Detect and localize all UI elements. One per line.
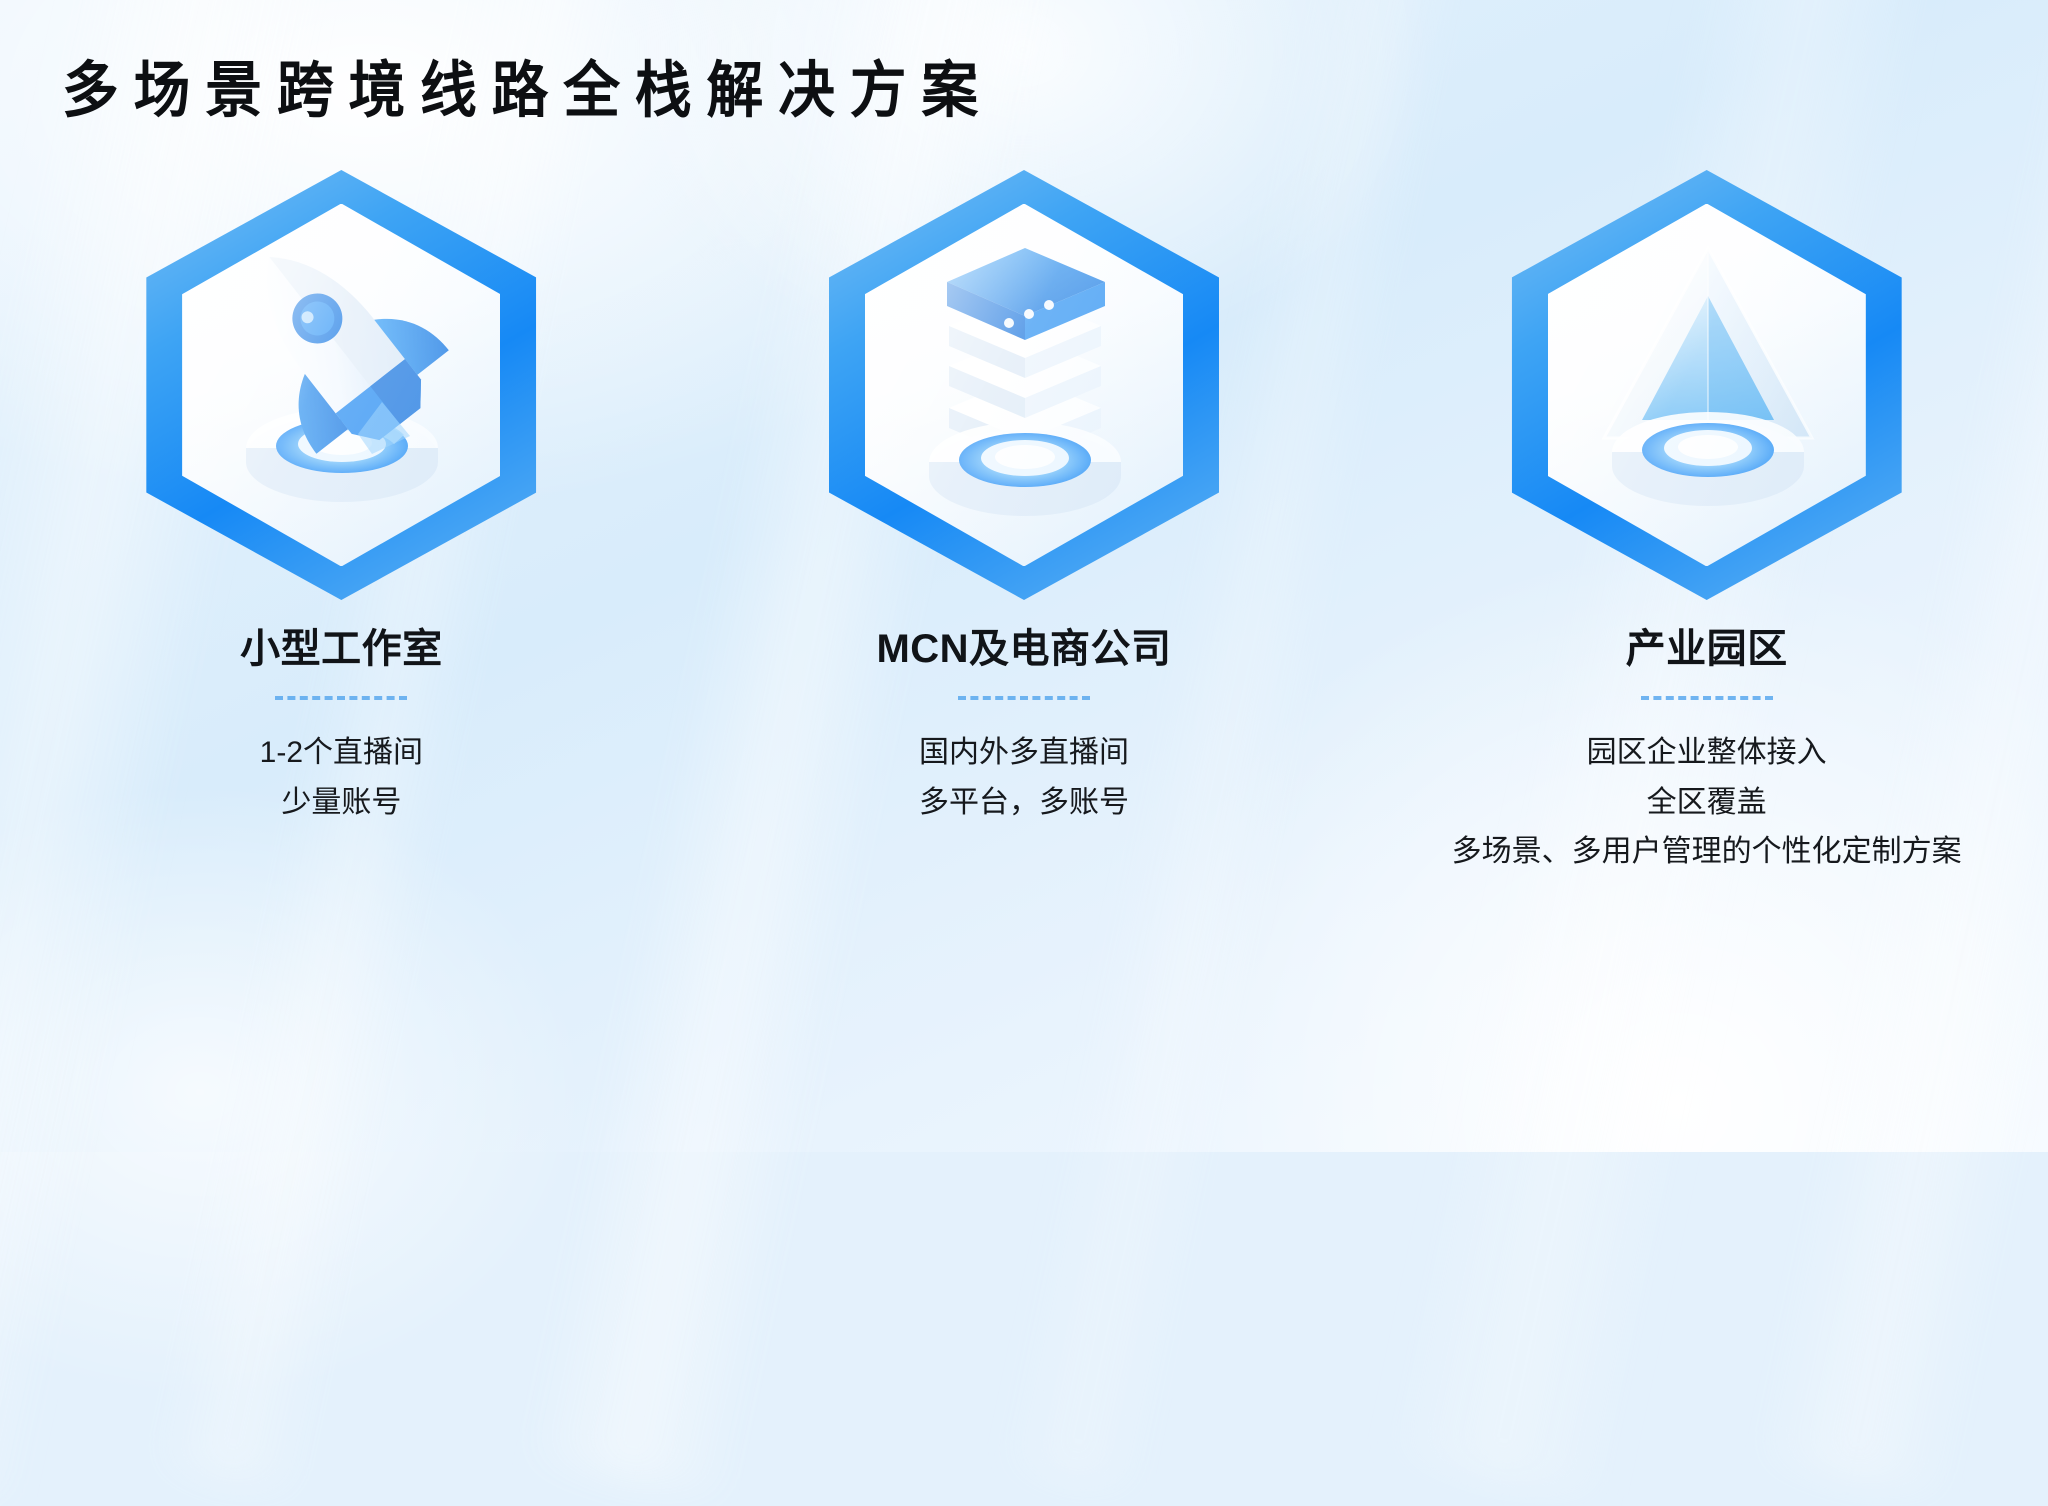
- card-description-line: 多平台，多账号: [919, 778, 1129, 828]
- pyramid-icon: [1512, 170, 1902, 600]
- hexagon-badge: [829, 170, 1219, 600]
- pyramid-shape: [1604, 248, 1812, 438]
- card-title: 小型工作室: [240, 616, 443, 674]
- card-description: 国内外多直播间 多平台，多账号: [919, 728, 1129, 827]
- pedestal: [1612, 412, 1804, 506]
- pedestal: [929, 422, 1121, 516]
- card-title: 产业园区: [1626, 616, 1788, 674]
- scenario-card-mcn-ecommerce[interactable]: MCN及电商公司 国内外多直播间 多平台，多账号: [683, 170, 1366, 877]
- hexagon-badge: [146, 170, 536, 600]
- card-title: MCN及电商公司: [876, 616, 1171, 674]
- card-description: 1-2个直播间 少量账号: [260, 728, 423, 827]
- card-divider: [1641, 696, 1773, 700]
- card-description-line: 多场景、多用户管理的个性化定制方案: [1452, 827, 1962, 877]
- scenario-card-small-studio[interactable]: 小型工作室 1-2个直播间 少量账号: [0, 170, 683, 877]
- scenario-card-list: 小型工作室 1-2个直播间 少量账号: [0, 170, 2048, 877]
- card-description-line: 少量账号: [260, 778, 423, 828]
- card-description-line: 1-2个直播间: [260, 728, 423, 778]
- card-description-line: 全区覆盖: [1452, 778, 1962, 828]
- card-description: 园区企业整体接入 全区覆盖 多场景、多用户管理的个性化定制方案: [1452, 728, 1962, 877]
- card-description-line: 国内外多直播间: [919, 728, 1129, 778]
- rocket-icon: [146, 170, 536, 600]
- page-title: 多场景跨境线路全栈解决方案: [62, 56, 993, 126]
- hexagon-badge: [1512, 170, 1902, 600]
- server-stack-icon: [829, 170, 1219, 600]
- card-divider: [275, 696, 407, 700]
- card-divider: [958, 696, 1090, 700]
- scenario-card-industrial-park[interactable]: 产业园区 园区企业整体接入 全区覆盖 多场景、多用户管理的个性化定制方案: [1365, 170, 2048, 877]
- card-description-line: 园区企业整体接入: [1452, 728, 1962, 778]
